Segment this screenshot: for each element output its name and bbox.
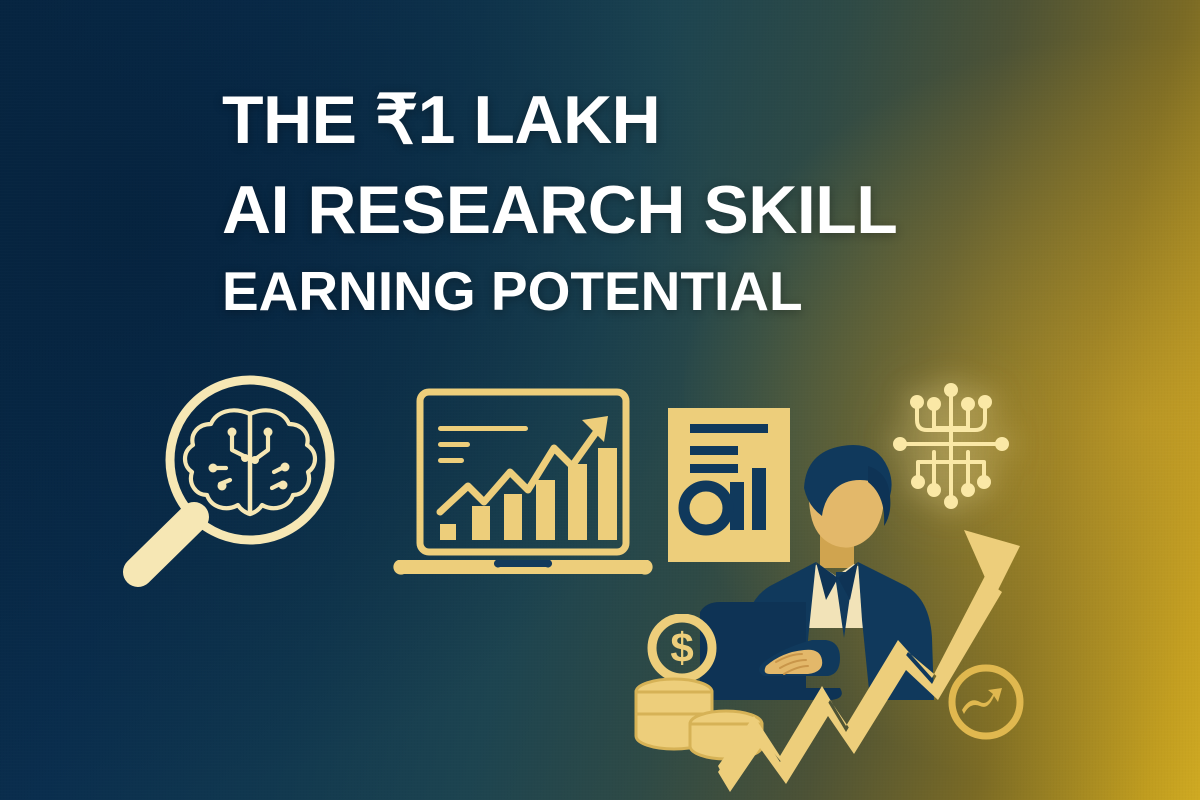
laptop-growth-chart-icon bbox=[392, 386, 654, 592]
poster-canvas: THE ₹1 LAKH AI RESEARCH SKILL EARNING PO… bbox=[0, 0, 1200, 800]
magnifying-glass-brain-icon bbox=[112, 372, 342, 592]
dollar-symbol: $ bbox=[670, 624, 693, 671]
trend-up-badge-icon bbox=[944, 660, 1028, 744]
illustration-layer: $ bbox=[0, 0, 1200, 800]
